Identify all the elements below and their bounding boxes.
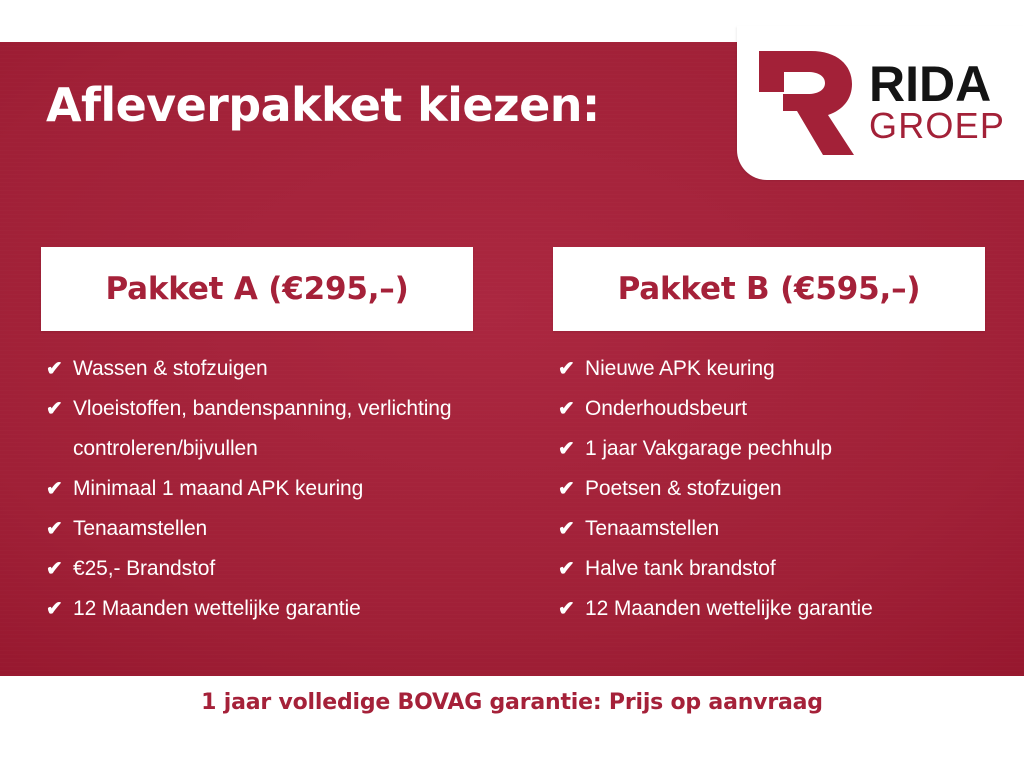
feature-item: ✔Tenaamstellen: [43, 509, 473, 549]
check-icon: ✔: [43, 349, 73, 389]
page-title: Afleverpakket kiezen:: [46, 78, 600, 132]
package-b-title: Pakket B (€595,–): [618, 271, 921, 307]
feature-label: Wassen & stofzuigen: [73, 349, 473, 389]
feature-label: €25,- Brandstof: [73, 549, 473, 589]
feature-label: Poetsen & stofzuigen: [585, 469, 985, 509]
package-a-header: Pakket A (€295,–): [41, 247, 473, 331]
feature-label: Halve tank brandstof: [585, 549, 985, 589]
check-icon: ✔: [43, 589, 73, 629]
package-card-b[interactable]: Pakket B (€595,–) ✔Nieuwe APK keuring✔On…: [553, 247, 985, 629]
rida-r-monogram-icon: [753, 47, 857, 159]
check-icon: ✔: [43, 469, 73, 509]
check-icon: ✔: [43, 549, 73, 589]
feature-item: ✔Nieuwe APK keuring: [555, 349, 985, 389]
logo-name-secondary: GROEP: [869, 109, 1005, 142]
feature-item: ✔Tenaamstellen: [555, 509, 985, 549]
feature-label: 12 Maanden wettelijke garantie: [73, 589, 473, 629]
check-icon: ✔: [555, 549, 585, 589]
feature-item: ✔Poetsen & stofzuigen: [555, 469, 985, 509]
feature-label: 12 Maanden wettelijke garantie: [585, 589, 985, 629]
package-b-header: Pakket B (€595,–): [553, 247, 985, 331]
brand-logo: RIDA GROEP: [737, 26, 1024, 180]
package-b-feature-list: ✔Nieuwe APK keuring✔Onderhoudsbeurt✔1 ja…: [553, 349, 985, 629]
check-icon: ✔: [555, 469, 585, 509]
check-icon: ✔: [555, 389, 585, 429]
footer-bar: 1 jaar volledige BOVAG garantie: Prijs o…: [0, 676, 1024, 768]
feature-item: ✔Vloeistoffen, bandenspanning, verlichti…: [43, 389, 473, 469]
package-card-a[interactable]: Pakket A (€295,–) ✔Wassen & stofzuigen✔V…: [41, 247, 473, 629]
feature-label: Vloeistoffen, bandenspanning, verlichtin…: [73, 389, 473, 469]
check-icon: ✔: [555, 509, 585, 549]
footer-note: 1 jaar volledige BOVAG garantie: Prijs o…: [201, 690, 823, 715]
feature-item: ✔12 Maanden wettelijke garantie: [555, 589, 985, 629]
check-icon: ✔: [555, 429, 585, 469]
check-icon: ✔: [43, 389, 73, 429]
feature-item: ✔Wassen & stofzuigen: [43, 349, 473, 389]
logo-wordmark: RIDA GROEP: [869, 61, 1005, 144]
feature-label: Onderhoudsbeurt: [585, 389, 985, 429]
check-icon: ✔: [43, 509, 73, 549]
feature-item: ✔Halve tank brandstof: [555, 549, 985, 589]
package-a-title: Pakket A (€295,–): [105, 271, 408, 307]
logo-name-primary: RIDA: [869, 61, 1005, 107]
check-icon: ✔: [555, 349, 585, 389]
feature-label: Nieuwe APK keuring: [585, 349, 985, 389]
feature-item: ✔12 Maanden wettelijke garantie: [43, 589, 473, 629]
feature-item: ✔1 jaar Vakgarage pechhulp: [555, 429, 985, 469]
feature-item: ✔Onderhoudsbeurt: [555, 389, 985, 429]
feature-label: Minimaal 1 maand APK keuring: [73, 469, 473, 509]
feature-label: 1 jaar Vakgarage pechhulp: [585, 429, 985, 469]
package-a-feature-list: ✔Wassen & stofzuigen✔Vloeistoffen, bande…: [41, 349, 473, 629]
feature-label: Tenaamstellen: [585, 509, 985, 549]
feature-item: ✔€25,- Brandstof: [43, 549, 473, 589]
slide-root: Afleverpakket kiezen: RIDA GROEP Pakket …: [0, 0, 1024, 768]
feature-label: Tenaamstellen: [73, 509, 473, 549]
feature-item: ✔Minimaal 1 maand APK keuring: [43, 469, 473, 509]
check-icon: ✔: [555, 589, 585, 629]
